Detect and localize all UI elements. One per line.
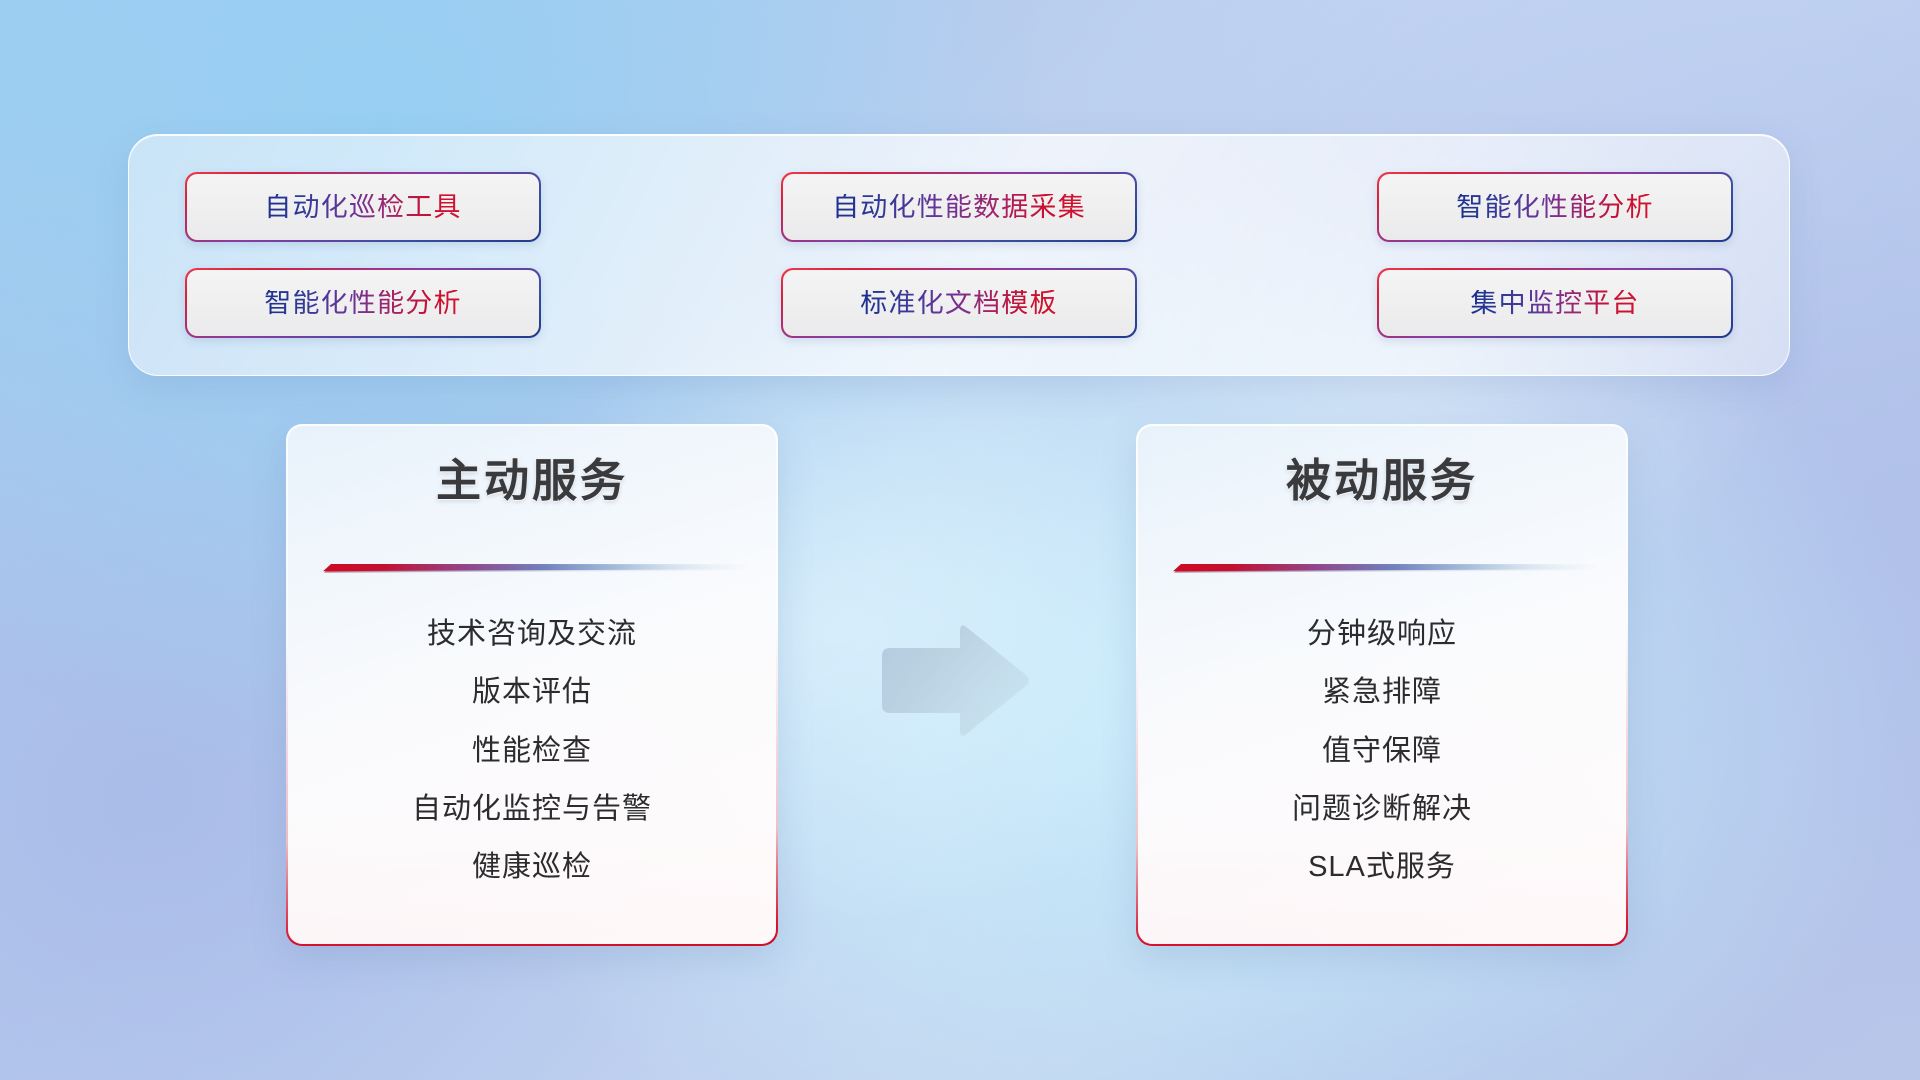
list-item[interactable]: SLA式服务 bbox=[1308, 851, 1456, 884]
capabilities-panel: 自动化巡检工具 自动化性能数据采集 智能化性能分析 智能化性能分析 标准化文档模… bbox=[128, 134, 1790, 376]
reactive-card-divider bbox=[1168, 563, 1596, 575]
reactive-service-card: 被动服务 bbox=[1136, 424, 1628, 946]
list-item[interactable]: 健康巡检 bbox=[472, 851, 592, 884]
proactive-card-inner: 主动服务 bbox=[288, 426, 777, 945]
list-item[interactable]: 值守保障 bbox=[1322, 735, 1442, 768]
list-item[interactable]: 问题诊断解决 bbox=[1292, 793, 1472, 826]
proactive-service-list: 技术咨询及交流 版本评估 性能检查 自动化监控与告警 健康巡检 bbox=[288, 575, 777, 945]
capability-pill-label: 自动化巡检工具 bbox=[264, 194, 461, 221]
capability-row-2: 智能化性能分析 标准化文档模板 集中监控平台 bbox=[185, 268, 1733, 338]
capability-pill-inner: 智能化性能分析 bbox=[187, 270, 539, 336]
list-item[interactable]: 紧急排障 bbox=[1322, 676, 1442, 709]
proactive-service-card: 主动服务 bbox=[286, 424, 778, 946]
proactive-card-title: 主动服务 bbox=[436, 456, 628, 506]
capability-pill-inner: 自动化巡检工具 bbox=[187, 174, 539, 240]
capability-pill[interactable]: 智能化性能分析 bbox=[185, 268, 541, 338]
reactive-card-title: 被动服务 bbox=[1286, 456, 1478, 506]
list-item[interactable]: 性能检查 bbox=[472, 735, 592, 768]
right-arrow-icon bbox=[874, 618, 1034, 746]
capability-pill[interactable]: 自动化性能数据采集 bbox=[781, 172, 1137, 242]
capability-pill[interactable]: 标准化文档模板 bbox=[781, 268, 1137, 338]
capability-pill[interactable]: 智能化性能分析 bbox=[1377, 172, 1733, 242]
capability-pill-label: 标准化文档模板 bbox=[860, 290, 1057, 317]
capability-pill-label: 自动化性能数据采集 bbox=[832, 194, 1086, 221]
list-item[interactable]: 分钟级响应 bbox=[1307, 618, 1457, 651]
capability-pill[interactable]: 自动化巡检工具 bbox=[185, 172, 541, 242]
reactive-card-inner: 被动服务 bbox=[1138, 426, 1627, 945]
capability-pill-label: 集中监控平台 bbox=[1470, 290, 1639, 317]
capability-pill-inner: 标准化文档模板 bbox=[783, 270, 1135, 336]
capability-pill-inner: 集中监控平台 bbox=[1379, 270, 1731, 336]
proactive-card-divider bbox=[318, 563, 746, 575]
list-item[interactable]: 自动化监控与告警 bbox=[412, 793, 652, 826]
capability-row-1: 自动化巡检工具 自动化性能数据采集 智能化性能分析 bbox=[185, 172, 1733, 242]
capability-pill-inner: 智能化性能分析 bbox=[1379, 174, 1731, 240]
reactive-service-list: 分钟级响应 紧急排障 值守保障 问题诊断解决 SLA式服务 bbox=[1138, 575, 1627, 945]
capability-pill[interactable]: 集中监控平台 bbox=[1377, 268, 1733, 338]
list-item[interactable]: 技术咨询及交流 bbox=[427, 618, 637, 651]
capability-pill-inner: 自动化性能数据采集 bbox=[783, 174, 1135, 240]
capability-pill-label: 智能化性能分析 bbox=[1456, 194, 1653, 221]
list-item[interactable]: 版本评估 bbox=[472, 676, 592, 709]
capability-pill-label: 智能化性能分析 bbox=[264, 290, 461, 317]
